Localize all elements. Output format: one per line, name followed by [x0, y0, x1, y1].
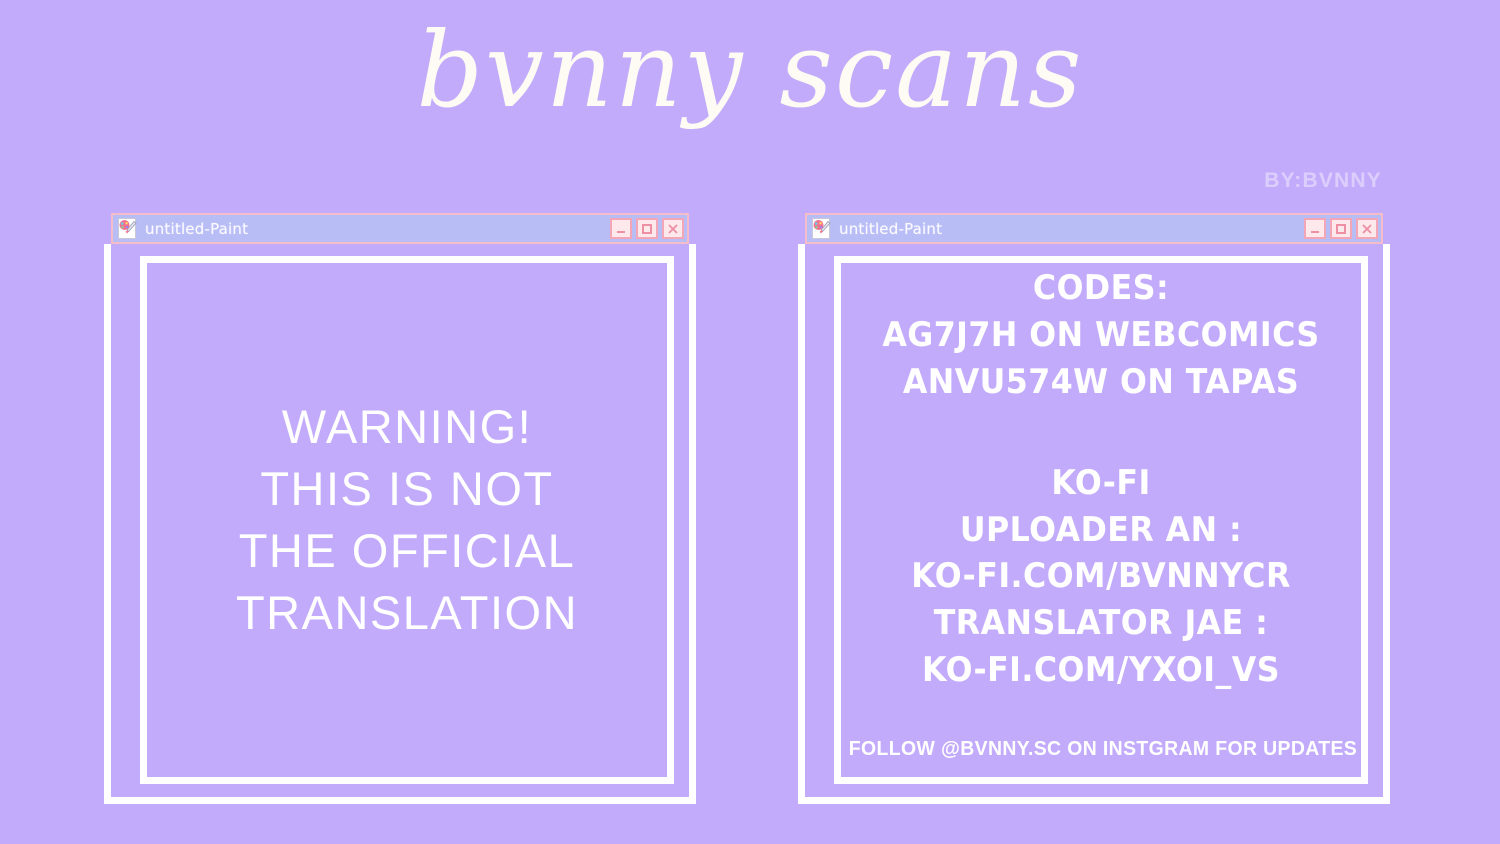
credits-canvas: CODES: AG7J7H ON WEBCOMICS ANVU574W ON T…	[841, 263, 1361, 777]
credits-text-block: CODES: AG7J7H ON WEBCOMICS ANVU574W ON T…	[841, 265, 1361, 761]
warning-window: untitled-Paint WARNING! THIS IS	[104, 204, 696, 804]
window-title-text: untitled-Paint	[839, 220, 942, 238]
page-title: bvnny scans	[0, 18, 1500, 122]
window-title-bar[interactable]: untitled-Paint	[111, 213, 689, 244]
warning-line-1: WARNING!	[236, 396, 578, 458]
warning-line-2: THIS IS NOT	[236, 458, 578, 520]
maximize-icon	[641, 223, 653, 235]
warning-text-block: WARNING! THIS IS NOT THE OFFICIAL TRANSL…	[236, 396, 578, 644]
warning-line-4: TRANSLATION	[236, 582, 578, 644]
uploader-kofi-link[interactable]: KO-FI.COM/BVNNYCR	[859, 553, 1343, 600]
paint-palette-icon	[811, 218, 832, 239]
window-title-text: untitled-Paint	[145, 220, 248, 238]
window-title-bar[interactable]: untitled-Paint	[805, 213, 1383, 244]
close-icon	[667, 223, 679, 235]
translator-kofi-link[interactable]: KO-FI.COM/YXOI_VS	[859, 647, 1343, 694]
code-tapas: ANVU574W ON TAPAS	[859, 359, 1343, 406]
follow-instagram-line: FOLLOW @BVNNY.SC ON INSTGRAM FOR UPDATES	[849, 738, 1353, 761]
close-button[interactable]	[1356, 218, 1378, 239]
byline-credit: BY:BVNNY	[1264, 169, 1382, 193]
kofi-heading: KO-FI	[859, 460, 1343, 507]
close-button[interactable]	[662, 218, 684, 239]
code-webcomics: AG7J7H ON WEBCOMICS	[859, 312, 1343, 359]
title-bar-left-group: untitled-Paint	[117, 218, 610, 239]
window-controls	[610, 218, 684, 239]
minimize-icon	[1309, 223, 1321, 235]
window-controls	[1304, 218, 1378, 239]
minimize-button[interactable]	[610, 218, 632, 239]
minimize-button[interactable]	[1304, 218, 1326, 239]
credits-window: untitled-Paint CODES: AG7J7H ON	[798, 204, 1390, 804]
title-bar-left-group: untitled-Paint	[811, 218, 1304, 239]
minimize-icon	[615, 223, 627, 235]
codes-heading: CODES:	[859, 265, 1343, 312]
translator-label: TRANSLATOR JAE :	[859, 600, 1343, 647]
close-icon	[1361, 223, 1373, 235]
paint-palette-icon	[117, 218, 138, 239]
warning-line-3: THE OFFICIAL	[236, 520, 578, 582]
maximize-button[interactable]	[1330, 218, 1352, 239]
maximize-icon	[1335, 223, 1347, 235]
warning-canvas: WARNING! THIS IS NOT THE OFFICIAL TRANSL…	[147, 263, 667, 777]
credits-spacer	[841, 406, 1361, 460]
maximize-button[interactable]	[636, 218, 658, 239]
uploader-label: UPLOADER AN :	[859, 507, 1343, 554]
